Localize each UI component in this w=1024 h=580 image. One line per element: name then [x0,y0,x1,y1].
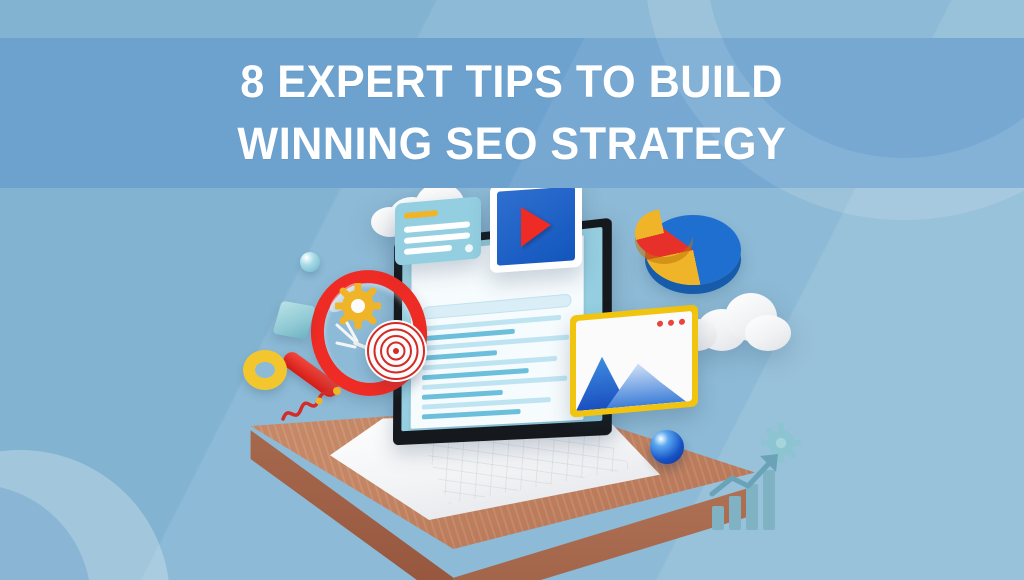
area-chart-graphic [576,337,692,411]
banner-graphic: 8 EXPERT TIPS TO BUILD WINNING SEO STRAT… [0,0,1024,580]
bar-chart-growth [708,450,786,530]
play-icon [521,205,551,247]
torus-shape [243,350,287,390]
video-thumbnail [497,186,575,265]
illustration-stage [225,195,800,580]
document-card-knob [465,244,473,253]
video-play-card [490,179,582,273]
marble-sphere [650,430,684,464]
area-chart-card [570,304,698,417]
title-line-1: 8 EXPERT TIPS TO BUILD [241,53,784,111]
squiggle-shape [281,385,351,427]
pie-chart [645,205,741,289]
title-banner: 8 EXPERT TIPS TO BUILD WINNING SEO STRAT… [0,38,1024,188]
title-line-2: WINNING SEO STRATEGY [238,115,787,173]
chart-window-dots [657,319,685,327]
sphere-shape [300,252,320,272]
area-chart-window [576,311,692,411]
page-title: 8 EXPERT TIPS TO BUILD WINNING SEO STRAT… [0,38,1024,188]
target-icon [365,320,427,382]
pie-chart-detached-slice [635,209,693,257]
document-card [395,196,481,266]
